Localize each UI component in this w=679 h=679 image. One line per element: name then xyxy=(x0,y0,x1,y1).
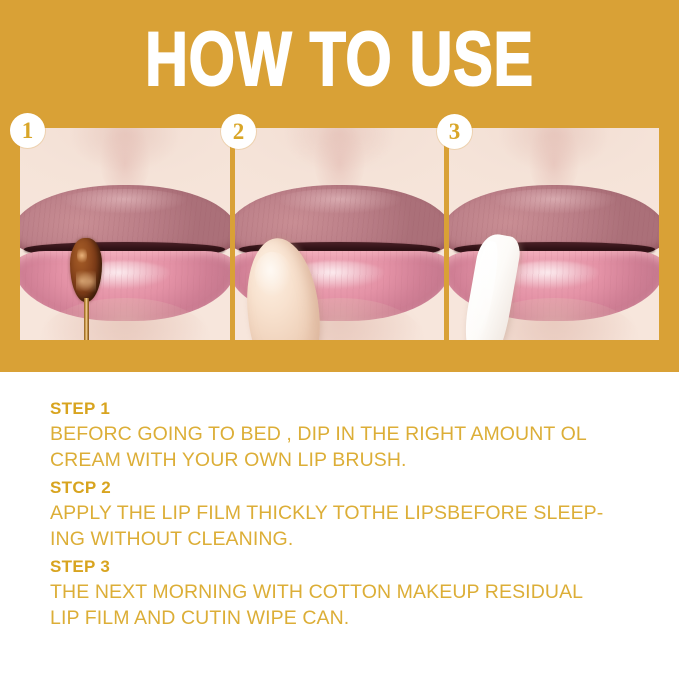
step-1-line-2: CREAM WITH YOUR OWN LIP BRUSH. xyxy=(50,447,660,473)
how-to-use-infographic: HOW TO USE xyxy=(0,0,679,679)
photo-step-2 xyxy=(235,128,445,340)
step-1-heading: STEP 1 xyxy=(50,396,660,421)
lip-brush-handle-icon xyxy=(84,298,89,340)
step-badge-3: 3 xyxy=(437,114,472,149)
step-3-heading: STEP 3 xyxy=(50,554,660,579)
step-2-line-1: APPLY THE LIP FILM THICKLY TOTHE LIPSBEF… xyxy=(50,500,660,526)
step-2-line-2: ING WITHOUT CLEANING. xyxy=(50,526,660,552)
photo-step-1 xyxy=(20,128,230,340)
instruction-step-3: STEP 3 THE NEXT MORNING WITH COTTON MAKE… xyxy=(50,554,660,631)
photo-strip xyxy=(20,128,659,340)
instruction-step-1: STEP 1 BEFORC GOING TO BED , DIP IN THE … xyxy=(50,396,660,473)
step-3-line-2: LIP FILM AND CUTIN WIPE CAN. xyxy=(50,605,660,631)
photo-step-3 xyxy=(449,128,659,340)
step-3-line-1: THE NEXT MORNING WITH COTTON MAKEUP RESI… xyxy=(50,579,660,605)
instruction-step-2: STCP 2 APPLY THE LIP FILM THICKLY TOTHE … xyxy=(50,475,660,552)
step-badge-2: 2 xyxy=(221,114,256,149)
page-title: HOW TO USE xyxy=(75,22,605,98)
instructions-list: STEP 1 BEFORC GOING TO BED , DIP IN THE … xyxy=(50,396,660,633)
step-1-line-1: BEFORC GOING TO BED , DIP IN THE RIGHT A… xyxy=(50,421,660,447)
step-badge-1: 1 xyxy=(10,113,45,148)
step-2-heading: STCP 2 xyxy=(50,475,660,500)
